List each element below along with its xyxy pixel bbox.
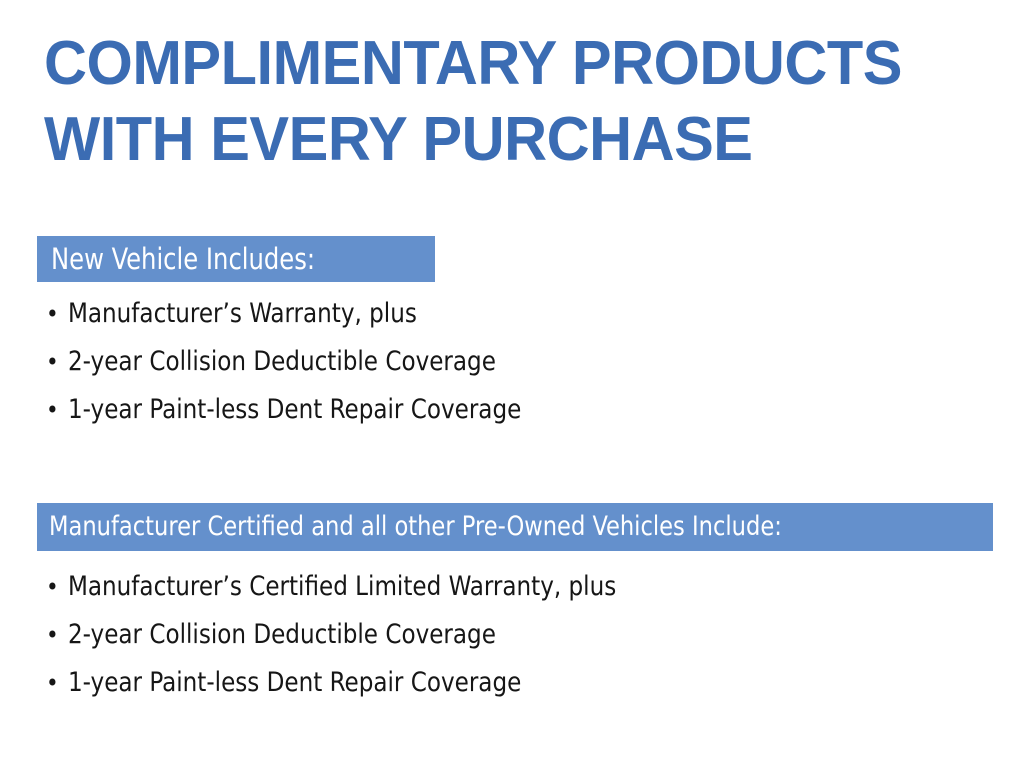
list-item-label: Manufacturer’s Certified Limited Warrant…	[68, 570, 616, 604]
list-item: • 2-year Collision Deductible Coverage	[46, 618, 645, 666]
bullet-list-certified-preowned: • Manufacturer’s Certified Limited Warra…	[46, 570, 645, 714]
list-item: • 1-year Paint-less Dent Repair Coverage	[46, 666, 645, 714]
bullet-point-icon: •	[46, 398, 68, 422]
section-header-new-vehicle: New Vehicle Includes:	[37, 236, 435, 282]
bullet-point-icon: •	[46, 575, 68, 599]
bullet-point-icon: •	[46, 350, 68, 374]
page-title-line-1: COMPLIMENTARY PRODUCTS	[44, 26, 956, 102]
slide-canvas: COMPLIMENTARY PRODUCTS WITH EVERY PURCHA…	[0, 0, 1024, 768]
bullet-point-icon: •	[46, 302, 68, 326]
page-title: COMPLIMENTARY PRODUCTS WITH EVERY PURCHA…	[44, 26, 994, 178]
list-item-label: 1-year Paint-less Dent Repair Coverage	[68, 666, 521, 700]
list-item: • Manufacturer’s Certified Limited Warra…	[46, 570, 645, 618]
list-item-label: 1-year Paint-less Dent Repair Coverage	[68, 393, 521, 427]
list-item-label: Manufacturer’s Warranty, plus	[68, 297, 417, 331]
section-header-new-vehicle-label: New Vehicle Includes:	[51, 244, 315, 274]
list-item: • 1-year Paint-less Dent Repair Coverage	[46, 393, 545, 441]
bullet-point-icon: •	[46, 671, 68, 695]
section-header-certified-preowned: Manufacturer Certified and all other Pre…	[37, 503, 993, 551]
list-item-label: 2-year Collision Deductible Coverage	[68, 618, 496, 652]
list-item: • Manufacturer’s Warranty, plus	[46, 297, 545, 345]
page-title-line-2: WITH EVERY PURCHASE	[44, 102, 956, 178]
bullet-list-new-vehicle: • Manufacturer’s Warranty, plus • 2-year…	[46, 297, 545, 441]
bullet-point-icon: •	[46, 623, 68, 647]
section-header-certified-preowned-label: Manufacturer Certified and all other Pre…	[49, 513, 782, 541]
list-item-label: 2-year Collision Deductible Coverage	[68, 345, 496, 379]
list-item: • 2-year Collision Deductible Coverage	[46, 345, 545, 393]
